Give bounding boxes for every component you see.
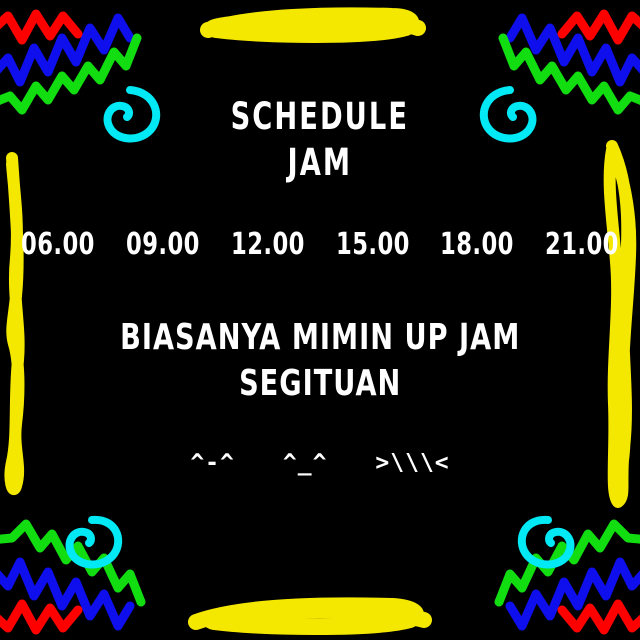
schedule-times-row: 06.00 09.00 12.00 15.00 18.00 21.00 (14, 227, 626, 262)
title-line-jam: JAM (231, 144, 409, 181)
schedule-time-1: 06.00 (21, 227, 95, 262)
schedule-time-6: 21.00 (545, 227, 619, 262)
emoticon-3: >\\\< (375, 450, 449, 476)
page-title: SCHEDULE JAM (211, 98, 429, 181)
schedule-time-3: 12.00 (231, 227, 305, 262)
schedule-time-5: 18.00 (440, 227, 514, 262)
schedule-time-2: 09.00 (126, 227, 200, 262)
title-line-schedule: SCHEDULE (231, 98, 409, 135)
emoticons-row: ^-^ ^_^ >\\\< (190, 450, 449, 476)
caption-line-1: BIASANYA MIMIN UP JAM (120, 320, 520, 356)
emoticon-1: ^-^ (190, 450, 235, 476)
schedule-time-4: 15.00 (336, 227, 410, 262)
caption-line-2: SEGITUAN (120, 366, 520, 402)
poster-canvas: SCHEDULE JAM 06.00 09.00 12.00 15.00 18.… (0, 0, 640, 640)
emoticon-2: ^_^ (283, 450, 328, 476)
poster-content: SCHEDULE JAM 06.00 09.00 12.00 15.00 18.… (0, 0, 640, 640)
caption: BIASANYA MIMIN UP JAM SEGITUAN (82, 320, 558, 402)
